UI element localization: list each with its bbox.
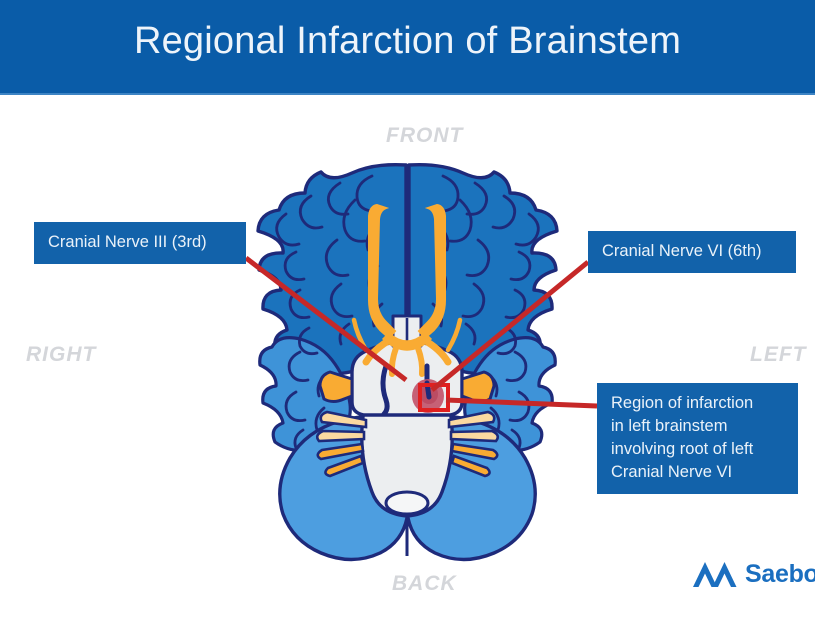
callout-cranial-nerve-6[interactable]: Cranial Nerve VI (6th) xyxy=(588,231,796,273)
trigeminal-nerve-left xyxy=(462,372,494,402)
mountain-peaks-icon xyxy=(692,559,738,589)
brain-diagram xyxy=(0,0,815,620)
callout-cranial-nerve-3[interactable]: Cranial Nerve III (3rd) xyxy=(34,222,246,264)
spinal-cord-cross-section xyxy=(386,492,428,514)
callout-region-of-infarction[interactable]: Region of infarction in left brainstem i… xyxy=(597,383,798,494)
slide-canvas: Regional Infarction of Brainstem FRONT R… xyxy=(0,0,815,620)
trigeminal-nerve-right xyxy=(320,372,352,402)
saebo-logo-text: Saebo xyxy=(745,562,815,587)
saebo-logo[interactable]: Saebo xyxy=(692,556,808,592)
